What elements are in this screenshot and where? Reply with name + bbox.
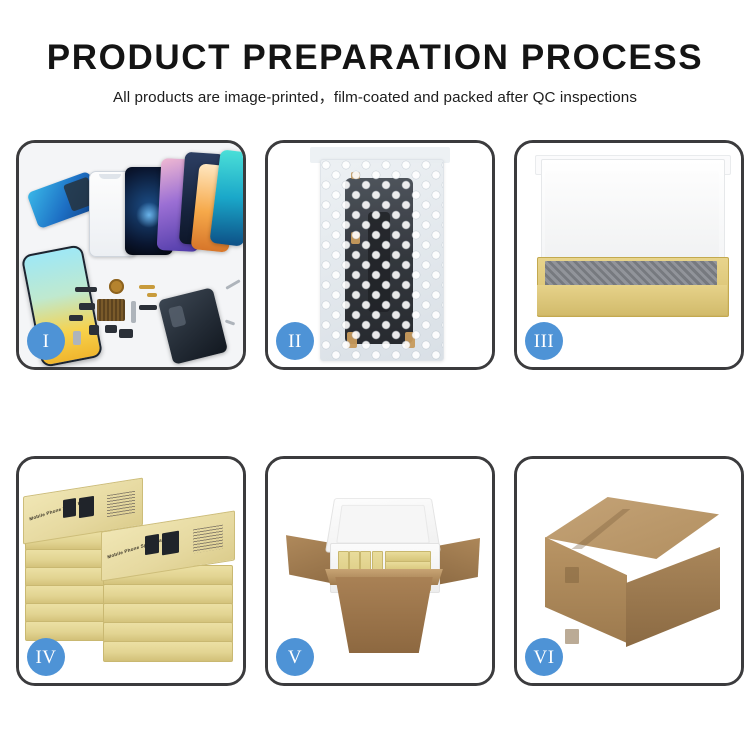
carton-right-face: [626, 547, 720, 647]
stacked-box: [103, 641, 233, 662]
box-label-thumbnail: [63, 498, 76, 518]
header: PRODUCT PREPARATION PROCESS All products…: [0, 0, 750, 108]
carton-tape-tab: [565, 629, 579, 644]
ribbon-cable-part: [139, 305, 157, 310]
vibrator-part: [105, 325, 117, 333]
screwdriver-tool: [225, 319, 235, 325]
stacked-box: [103, 584, 233, 605]
sim-tray-part: [73, 331, 81, 345]
process-step-4[interactable]: Mobile Phone Spare Parts Mobile Phone Sp…: [16, 456, 246, 686]
bubble-wrap-bag: [320, 159, 444, 361]
process-step-2[interactable]: II: [265, 140, 495, 370]
box-label-thumbnail: [145, 534, 159, 555]
button-part: [89, 325, 99, 335]
box-label-thumbnail: [79, 496, 94, 518]
stacked-box: [103, 603, 233, 624]
step-badge-5: V: [276, 638, 314, 676]
process-step-6[interactable]: VI: [514, 456, 744, 686]
box-front-face: [537, 285, 727, 315]
logic-board-part: [97, 299, 125, 321]
page-subtitle: All products are image-printed，film-coat…: [0, 88, 750, 108]
small-chip-part: [69, 315, 83, 321]
gold-contact-part: [147, 293, 157, 297]
stacked-box: [103, 622, 233, 643]
step-badge-3: III: [525, 322, 563, 360]
white-foam-sheet: [545, 171, 719, 263]
step-badge-2: II: [276, 322, 314, 360]
carton-tape-tab: [565, 567, 579, 583]
bubble-texture: [321, 160, 443, 360]
carton-body: [326, 577, 442, 653]
step-badge-1: I: [27, 322, 65, 360]
carton-left-face: [545, 537, 627, 643]
flex-strip-part: [75, 287, 97, 292]
process-step-5[interactable]: V: [265, 456, 495, 686]
camera-module-part: [79, 303, 95, 310]
speaker-coil-part: [109, 279, 124, 294]
foam-lid-inner: [336, 505, 430, 544]
box-label-spec-lines: [193, 525, 223, 554]
box-label-spec-lines: [107, 491, 135, 517]
gold-contact-part: [139, 285, 155, 289]
tweezers-tool: [225, 279, 240, 290]
process-step-grid: I II: [16, 140, 736, 740]
box-label-thumbnail: [162, 531, 179, 556]
process-step-1[interactable]: I: [16, 140, 246, 370]
step-badge-4: IV: [27, 638, 65, 676]
connector-part: [119, 329, 133, 338]
process-step-3[interactable]: III: [514, 140, 744, 370]
phone-back-cover: [158, 287, 228, 365]
antenna-flex-part: [131, 301, 136, 323]
product-preparation-infographic: PRODUCT PREPARATION PROCESS All products…: [0, 0, 750, 750]
step-badge-6: VI: [525, 638, 563, 676]
page-title: PRODUCT PREPARATION PROCESS: [0, 38, 750, 78]
